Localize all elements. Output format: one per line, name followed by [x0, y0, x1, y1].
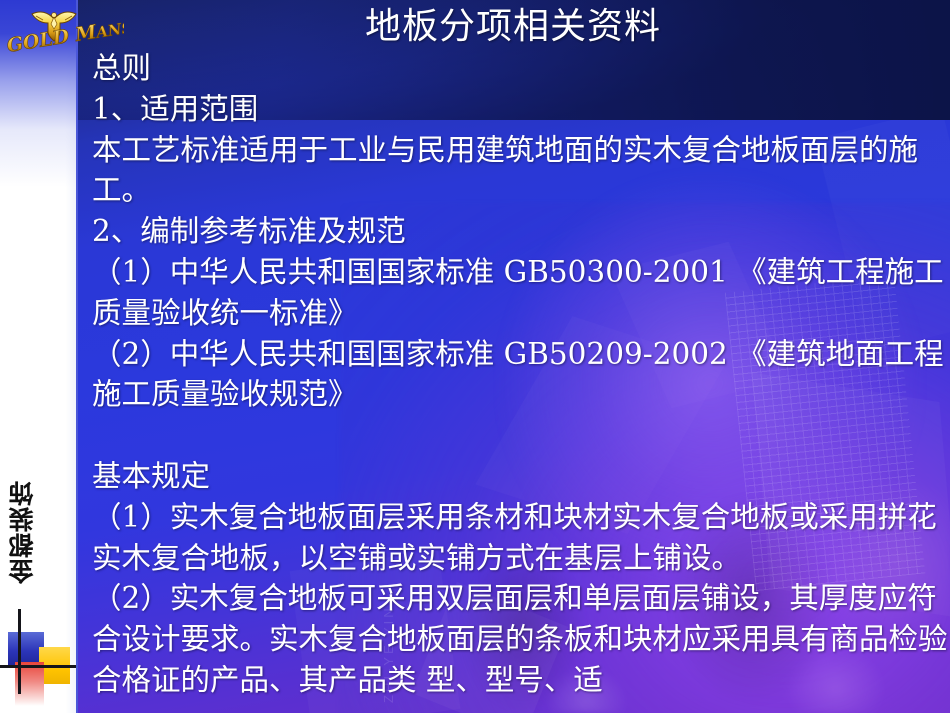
body-line: 本工艺标准适用于工业与民用建筑地面的实木复合地板面层的施工。 [92, 130, 948, 212]
vertical-rule [18, 609, 21, 694]
left-sidebar: 金都装饰 [0, 0, 78, 713]
body-line: （1）中华人民共和国国家标准 GB50300-2001 《建筑工程施工质量验收统… [92, 252, 948, 334]
horizontal-rule [0, 665, 76, 668]
gold-mans-logo: GOLD MANS [6, 4, 124, 66]
page-title: 地板分项相关资料 [76, 8, 950, 46]
crown-emblem-icon: GOLD MANS [6, 4, 124, 66]
slide-body: 总则 1、适用范围 本工艺标准适用于工业与民用建筑地面的实木复合地板面层的施工。… [92, 48, 948, 701]
body-line: 1、适用范围 [92, 89, 948, 130]
body-line: 基本规定 [92, 456, 948, 497]
body-line: 2、编制参考标准及规范 [92, 211, 948, 252]
body-line: 总则 [92, 48, 948, 89]
body-line: （2）实木复合地板可采用双层面层和单层面层铺设，其厚度应符合设计要求。实木复合地… [92, 578, 948, 700]
body-line: （1）实木复合地板面层采用条材和块材实木复合地板或采用拼花实木复合地板，以空铺或… [92, 497, 948, 579]
presentation-slide: ZHI-YE YIN 金都装饰 [0, 0, 950, 713]
body-spacer [92, 415, 948, 456]
color-blocks-decoration [0, 605, 76, 713]
body-line: （2）中华人民共和国国家标准 GB50209-2002 《建筑地面工程施工质量验… [92, 334, 948, 416]
sidebar-vertical-text: 金都装饰 [10, 480, 54, 584]
